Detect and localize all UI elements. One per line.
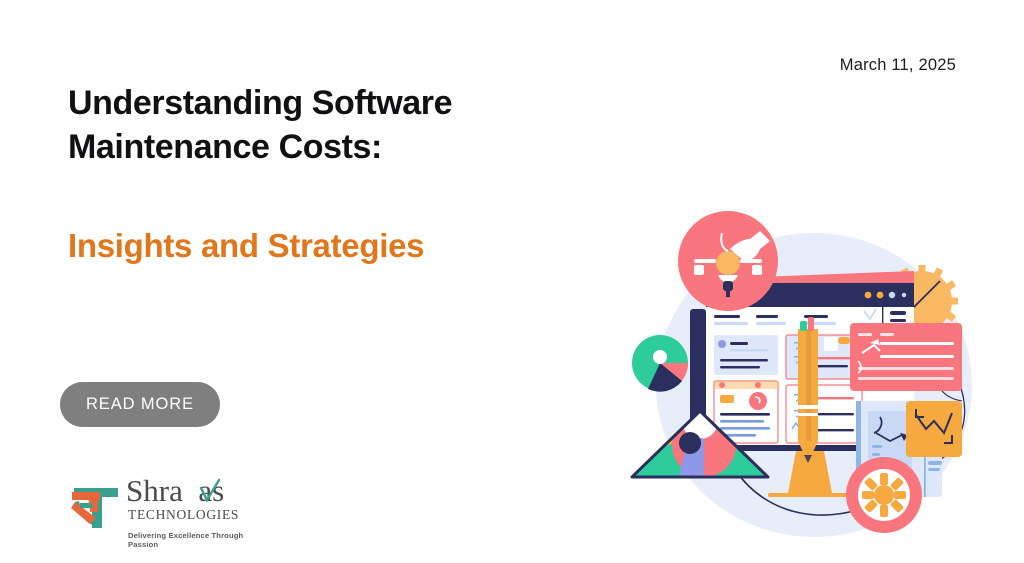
pencil [798, 317, 818, 463]
page-title-line-1: Understanding Software [68, 84, 452, 122]
orange-chart-tile [906, 401, 962, 457]
read-more-button[interactable]: READ MORE [60, 382, 220, 427]
page-subtitle: Insights and Strategies [68, 227, 424, 265]
brand-tagline: Delivering Excellence Through Passion [126, 531, 266, 549]
brand-wordmark: Shravas TECHNOLOGIES Delivering Excellen… [126, 474, 266, 549]
pie-chart [632, 335, 688, 392]
page-title: Understanding Software Maintenance Costs… [68, 82, 588, 169]
slide-canvas: March 11, 2025 Understanding Software Ma… [0, 0, 1024, 563]
check-icon [199, 477, 221, 503]
coral-note-card [850, 323, 962, 391]
publish-date: March 11, 2025 [840, 56, 956, 75]
page-title-line-2: Maintenance Costs: [68, 126, 588, 170]
read-more-label: READ MORE [86, 395, 194, 414]
brand-logo[interactable]: Shravas TECHNOLOGIES Delivering Excellen… [66, 472, 266, 544]
brand-name-prefix: Shra [126, 473, 183, 508]
brand-name: Shravas [126, 474, 266, 508]
shravas-logo-mark-icon [66, 472, 124, 530]
hero-illustration: S [618, 205, 1010, 557]
brand-subtitle: TECHNOLOGIES [126, 507, 266, 523]
gear-badge-circle [846, 457, 922, 533]
tools-badge-circle [678, 211, 778, 311]
